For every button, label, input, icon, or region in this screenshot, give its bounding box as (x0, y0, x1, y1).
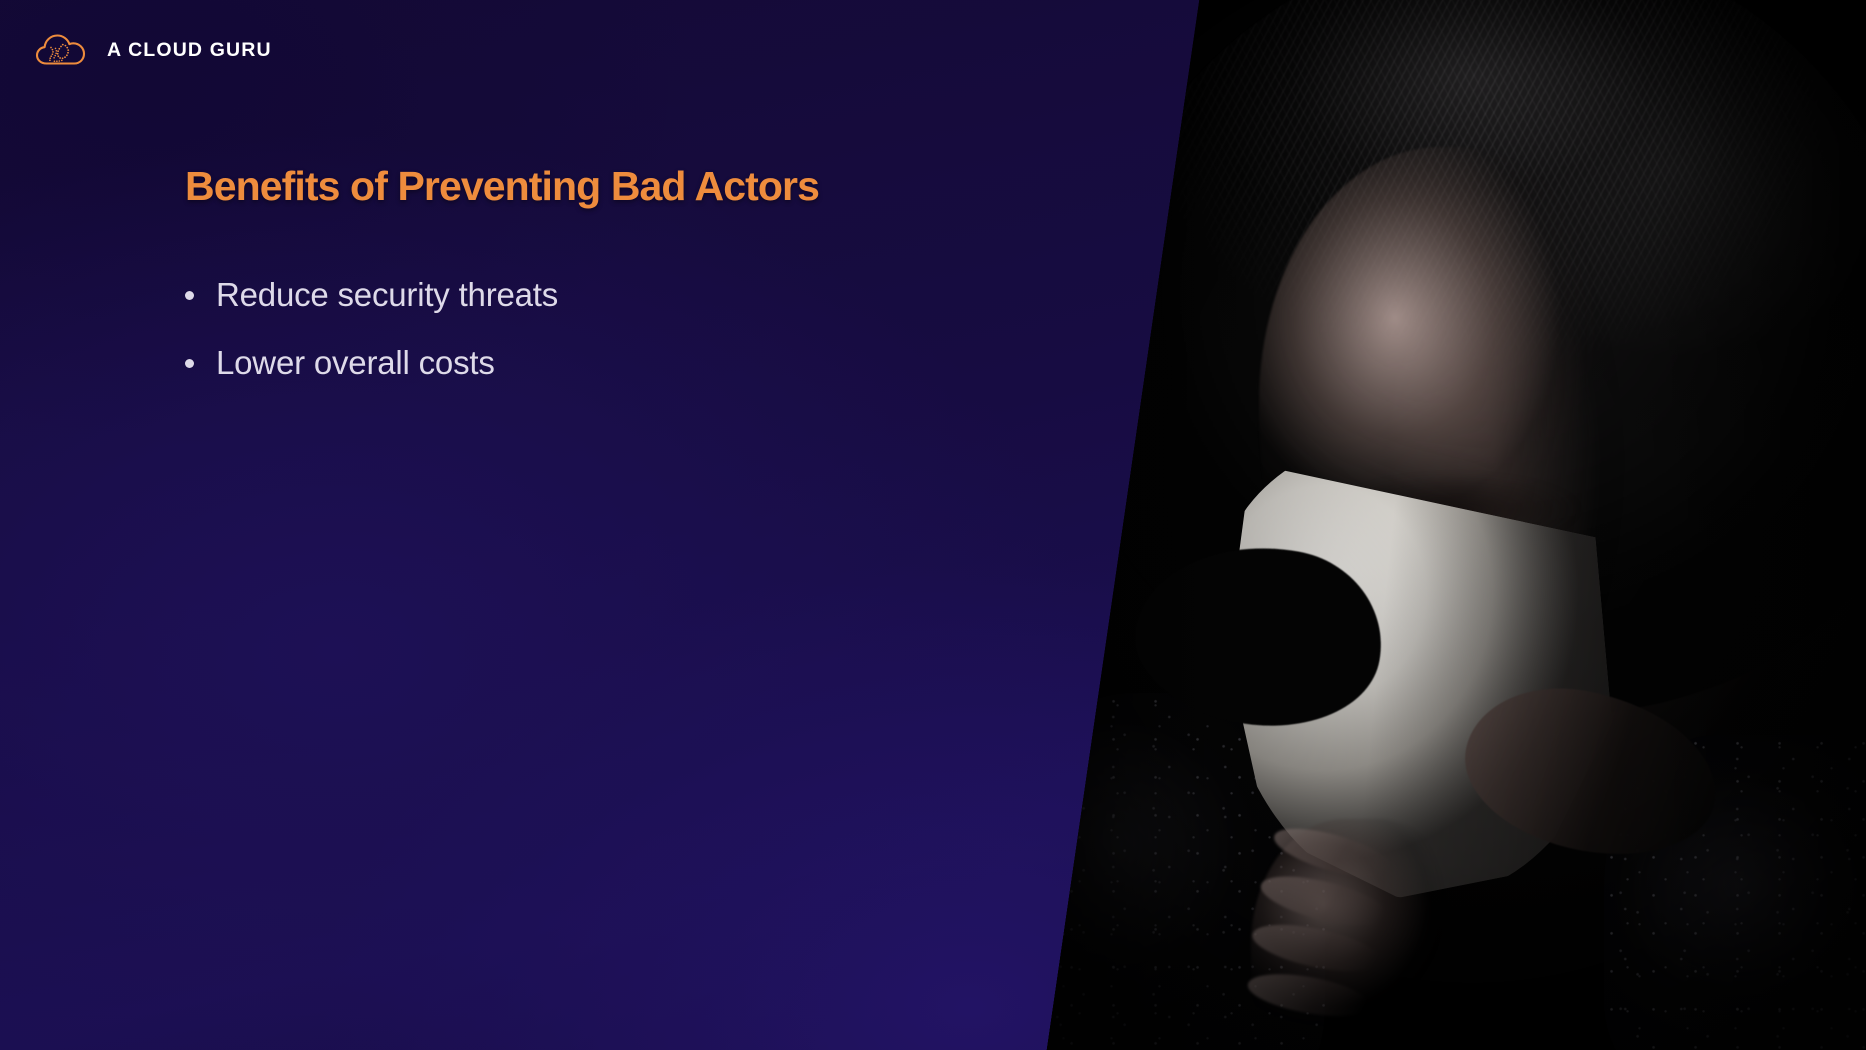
brand-name: A CLOUD GURU (107, 39, 272, 62)
brand-logo: A CLOUD GURU (34, 30, 272, 70)
slide-title: Benefits of Preventing Bad Actors (185, 163, 965, 211)
list-item: Reduce security threats (185, 274, 965, 315)
list-item: Lower overall costs (185, 342, 965, 383)
bullet-text: Reduce security threats (216, 274, 558, 315)
hooded-figure-photo (1046, 0, 1866, 1050)
photo-inner (1046, 0, 1866, 1050)
cloud-logo-icon (34, 30, 90, 70)
slide-content: Benefits of Preventing Bad Actors Reduce… (185, 163, 965, 410)
bullet-dot-icon (185, 359, 194, 368)
bullet-list: Reduce security threats Lower overall co… (185, 274, 965, 384)
bullet-text: Lower overall costs (216, 342, 495, 383)
bullet-dot-icon (185, 291, 194, 300)
presentation-slide: A CLOUD GURU Benefits of Preventing Bad … (0, 0, 1866, 1050)
